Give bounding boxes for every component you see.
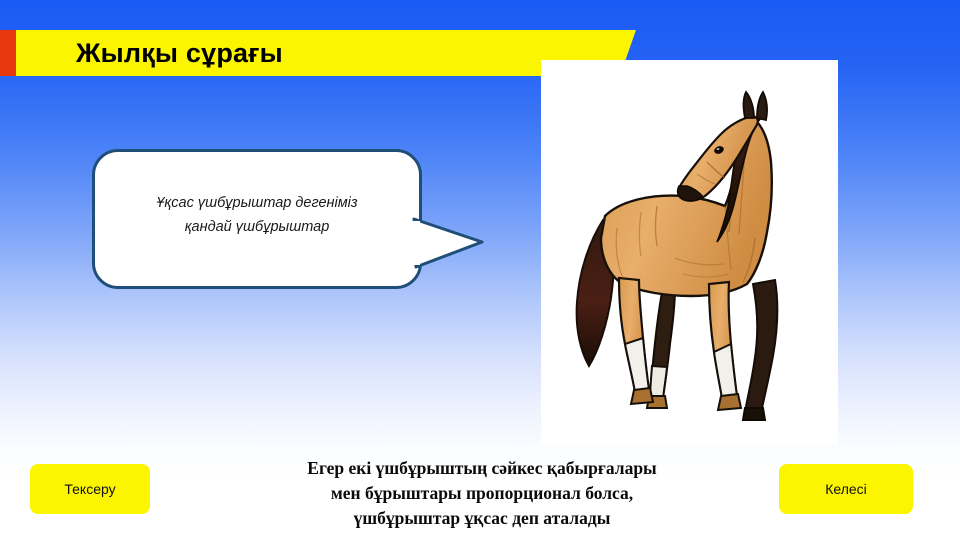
definition-line-2: мен бұрыштары пропорционал болса,	[240, 481, 724, 506]
slide-canvas: Жылқы сұрағы	[0, 0, 960, 540]
bubble-tail	[412, 215, 486, 271]
page-title: Жылқы сұрағы	[76, 31, 283, 75]
check-button[interactable]: Тексеру	[30, 464, 150, 514]
bubble-text-line-1: Ұқсас үшбұрыштар дегеніміз	[114, 191, 400, 215]
title-accent-bar	[0, 30, 16, 76]
definition-line-3: үшбұрыштар ұқсас деп аталады	[240, 506, 724, 531]
bubble-text: Ұқсас үшбұрыштар дегеніміз қандай үшбұры…	[114, 191, 400, 239]
illustration-card	[541, 60, 838, 445]
horse-illustration	[541, 60, 838, 445]
next-button[interactable]: Келесі	[779, 464, 913, 514]
question-speech-bubble: Ұқсас үшбұрыштар дегеніміз қандай үшбұры…	[92, 149, 422, 289]
definition-line-1: Егер екі үшбұрыштың сәйкес қабырғалары	[240, 456, 724, 481]
definition-text: Егер екі үшбұрыштың сәйкес қабырғалары м…	[240, 456, 724, 531]
bubble-text-line-2: қандай үшбұрыштар	[114, 215, 400, 239]
